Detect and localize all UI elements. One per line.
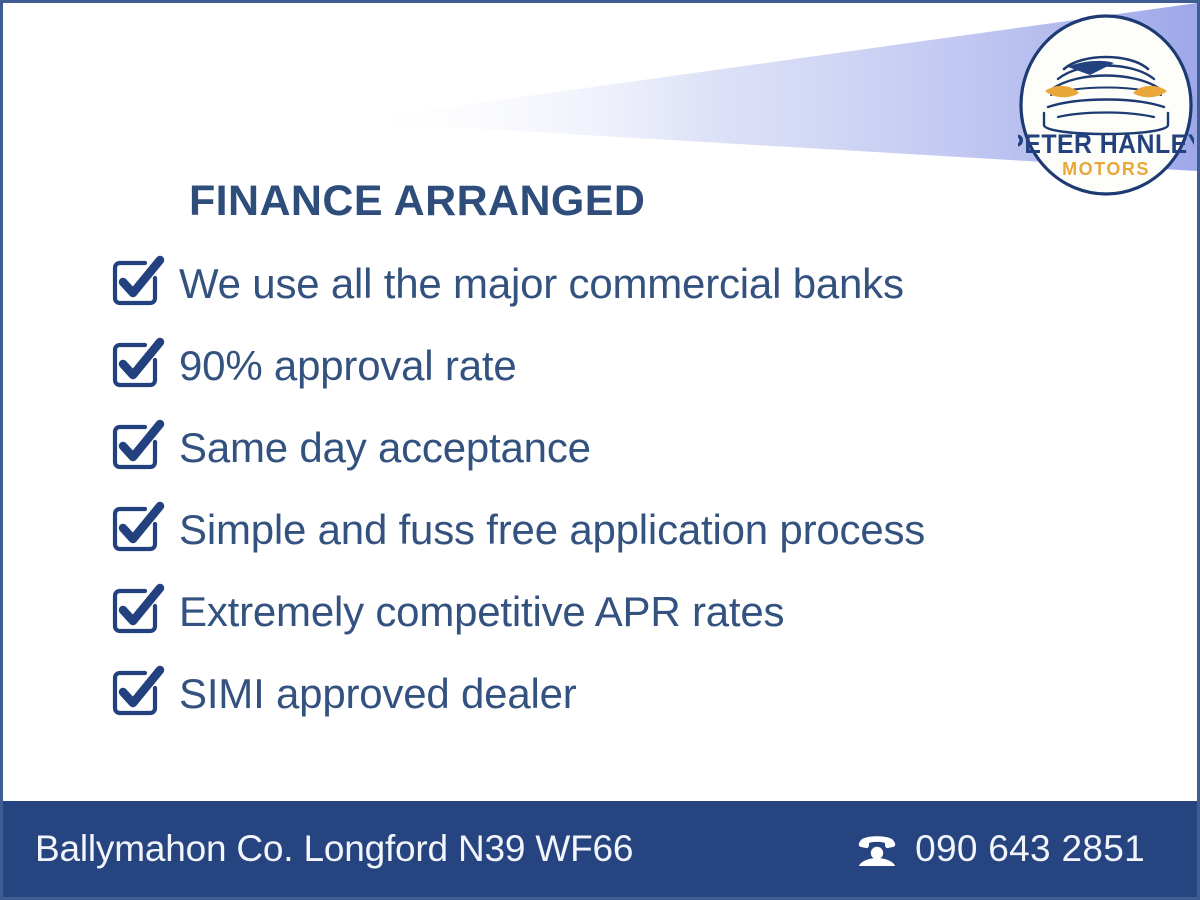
list-item-label: Same day acceptance [179, 427, 591, 469]
list-item-label: Extremely competitive APR rates [179, 591, 784, 633]
contact-bar: Ballymahon Co. Longford N39 WF66 090 643… [3, 801, 1197, 897]
brand-logo: PETER HANLEY MOTORS [1018, 13, 1194, 197]
list-item: We use all the major commercial banks [107, 243, 1107, 325]
list-item: Simple and fuss free application process [107, 489, 1107, 571]
telephone-icon [855, 834, 899, 868]
logo-name-text: PETER HANLEY [1018, 130, 1194, 159]
phone-group[interactable]: 090 643 2851 [855, 828, 1145, 870]
logo-sub-text: MOTORS [1062, 159, 1150, 179]
list-item-label: Simple and fuss free application process [179, 509, 925, 551]
page-title: FINANCE ARRANGED [189, 177, 645, 226]
address-text: Ballymahon Co. Longford N39 WF66 [35, 828, 633, 870]
list-item-label: We use all the major commercial banks [179, 263, 904, 305]
finance-arranged-poster: PETER HANLEY MOTORS FINANCE ARRANGED We … [0, 0, 1200, 900]
checkbox-checked-icon [107, 661, 169, 723]
list-item: Same day acceptance [107, 407, 1107, 489]
feature-list: We use all the major commercial banks 90… [107, 243, 1107, 735]
list-item: Extremely competitive APR rates [107, 571, 1107, 653]
list-item-label: SIMI approved dealer [179, 673, 577, 715]
checkbox-checked-icon [107, 333, 169, 395]
checkbox-checked-icon [107, 251, 169, 313]
checkbox-checked-icon [107, 415, 169, 477]
list-item: SIMI approved dealer [107, 653, 1107, 735]
phone-number[interactable]: 090 643 2851 [915, 828, 1145, 870]
list-item: 90% approval rate [107, 325, 1107, 407]
checkbox-checked-icon [107, 579, 169, 641]
list-item-label: 90% approval rate [179, 345, 516, 387]
checkbox-checked-icon [107, 497, 169, 559]
